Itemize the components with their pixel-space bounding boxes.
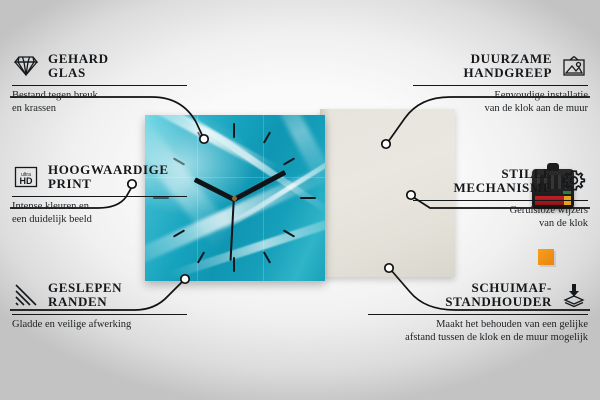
infographic-canvas: GEHARDGLAS Bestand tegen breuken krassen…: [0, 0, 600, 400]
product-photo: [145, 105, 455, 285]
feature-title: STILLEMECHANISME: [454, 167, 552, 195]
feature-subtitle: Maakt het behouden van een gelijkeafstan…: [368, 319, 588, 344]
hour-tick: [263, 251, 271, 263]
feature-stille-mechanisme[interactable]: STILLEMECHANISME Geruisloze wijzersvan d…: [413, 167, 588, 230]
feature-title: GESLEPENRANDEN: [48, 281, 122, 309]
divider: [413, 200, 588, 201]
feature-duurzame-handgreep[interactable]: DUURZAMEHANDGREEP Eenvoudige installatie…: [413, 52, 588, 115]
divider: [12, 196, 187, 197]
spacer-stack-icon: [560, 281, 588, 309]
ultra-hd-icon: ultra HD: [12, 163, 40, 191]
feature-subtitle: Gladde en veilige afwerking: [12, 319, 187, 332]
divider: [12, 85, 187, 86]
feature-title: GEHARDGLAS: [48, 52, 109, 80]
divider: [12, 314, 187, 315]
feature-gehard-glas[interactable]: GEHARDGLAS Bestand tegen breuken krassen: [12, 52, 187, 115]
divider: [413, 85, 588, 86]
feature-geslepen-randen[interactable]: GESLEPENRANDEN Gladde en veilige afwerki…: [12, 281, 187, 332]
hour-tick: [233, 257, 235, 272]
feature-subtitle: Eenvoudige installatievan de klok aan de…: [413, 90, 588, 115]
feature-subtitle: Bestand tegen breuken krassen: [12, 90, 187, 115]
feature-title: HOOGWAARDIGEPRINT: [48, 163, 169, 191]
feature-title: SCHUIMAF-STANDHOUDER: [445, 281, 552, 309]
hour-tick: [283, 157, 295, 165]
gear-icon: [560, 167, 588, 195]
clock-pivot: [232, 196, 237, 201]
hour-tick: [233, 123, 235, 138]
feature-subtitle: Geruisloze wijzersvan de klok: [413, 205, 588, 230]
divider: [368, 314, 588, 315]
feature-subtitle: Intense kleuren eneen duidelijk beeld: [12, 201, 187, 226]
svg-text:HD: HD: [20, 176, 33, 186]
bevelled-edges-icon: [12, 281, 40, 309]
hour-tick: [300, 197, 316, 199]
feature-hoogwaardige-print[interactable]: ultra HD HOOGWAARDIGEPRINT Intense kleur…: [12, 163, 187, 226]
feature-title: DUURZAMEHANDGREEP: [464, 52, 552, 80]
diamond-icon: [12, 52, 40, 80]
foam-spacer-pad: [538, 249, 554, 265]
glass-reflection-line: [197, 115, 198, 281]
hanging-picture-icon: [560, 52, 588, 80]
feature-schuimafstandhouder[interactable]: SCHUIMAF-STANDHOUDER Maakt het behouden …: [368, 281, 588, 344]
hour-tick: [263, 131, 271, 143]
